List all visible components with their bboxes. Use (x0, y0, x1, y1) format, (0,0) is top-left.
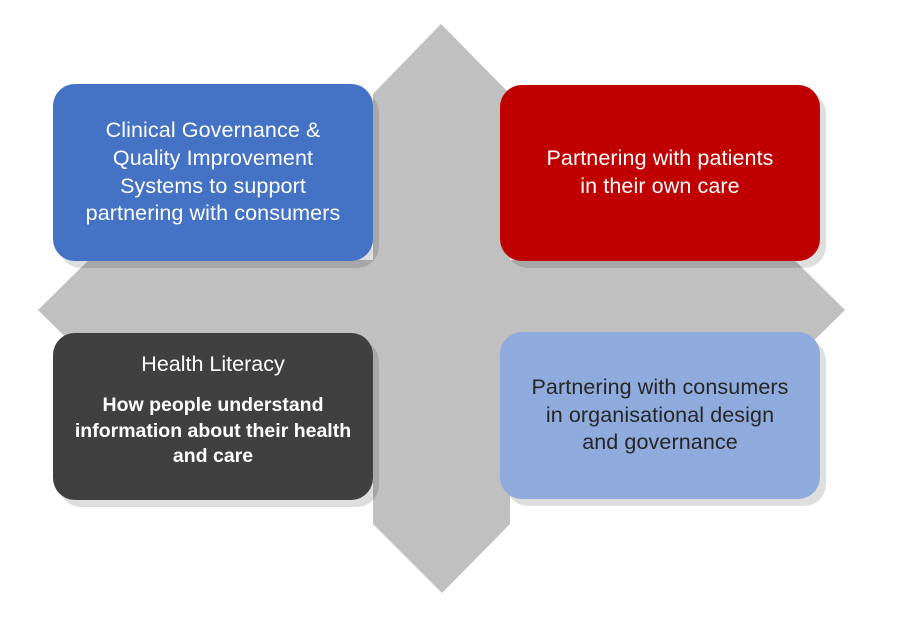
card-health-literacy-line-3: and care (173, 444, 253, 470)
diagram-canvas: Clinical Governance & Quality Improvemen… (0, 0, 900, 630)
card-clinical-governance[interactable]: Clinical Governance & Quality Improvemen… (53, 84, 373, 261)
card-partnering-consumers-line-2: in organisational design (546, 402, 774, 430)
card-partnering-consumers-line-3: and governance (582, 429, 738, 457)
card-clinical-governance-line-1: Clinical Governance & (106, 117, 321, 145)
card-health-literacy-line-1: How people understand (102, 393, 323, 419)
card-partnering-patients-line-2: in their own care (580, 173, 739, 201)
card-health-literacy-title: Health Literacy (141, 351, 284, 379)
card-partnering-patients-line-1: Partnering with patients (546, 145, 773, 173)
card-health-literacy-line-2: information about their health (75, 419, 351, 445)
card-partnering-consumers-line-1: Partnering with consumers (531, 374, 788, 402)
card-health-literacy[interactable]: Health Literacy How people understand in… (53, 333, 373, 500)
card-clinical-governance-line-2: Quality Improvement (113, 145, 313, 173)
card-clinical-governance-line-4: partnering with consumers (86, 200, 341, 228)
card-partnering-consumers[interactable]: Partnering with consumers in organisatio… (500, 332, 820, 499)
card-clinical-governance-line-3: Systems to support (120, 173, 306, 201)
card-partnering-patients[interactable]: Partnering with patients in their own ca… (500, 85, 820, 261)
